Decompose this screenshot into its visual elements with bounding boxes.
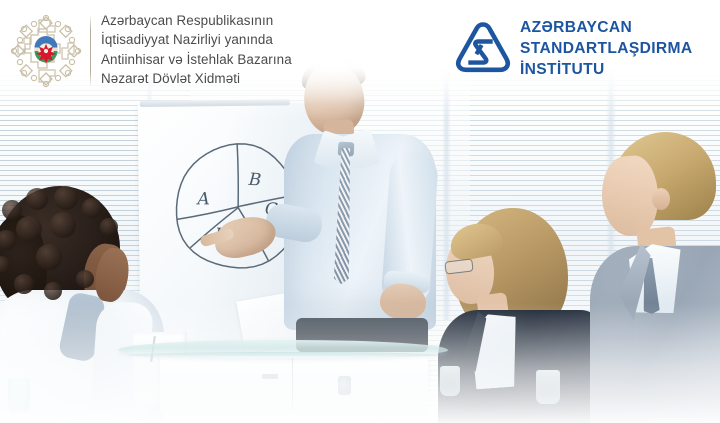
agency-name-line-3: Antiinhisar və İstehlak Bazarına [101,50,341,69]
ear [652,188,670,210]
hair-curl [82,198,102,218]
hair-curl [36,244,62,270]
hair-curl [44,282,62,300]
pie-slice-label-B: B [247,170,262,191]
header-band: Azərbaycan Respublikasının İqtisadiyyat … [0,0,720,104]
institute-name-line-3: İNSTİTUTU [520,60,693,81]
screenshot-canvas: ABCDE [0,0,720,423]
hair-curl [14,274,34,294]
hair-curl [2,200,22,220]
hair-curl [76,270,94,288]
institute-name-line-1: AZƏRBAYCAN [520,18,693,39]
hair-curl [54,186,78,210]
agency-name: Azərbaycan Respublikasının İqtisadiyyat … [101,11,341,88]
standards-institute-triangle-monogram-icon [452,20,514,78]
hair-curl [50,212,76,238]
hair-curl [16,216,42,242]
hair-curl [100,218,118,236]
pie-slice-label-A: A [195,189,209,209]
standards-institute-name: AZƏRBAYCAN STANDARTLAŞDIRMA İNSTİTUTU [520,18,693,80]
header-divider [90,16,91,86]
agency-name-line-4: Nəzarət Dövlət Xidməti [101,69,341,88]
agency-name-line-1: Azərbaycan Respublikasının [101,11,341,30]
azerbaijan-ornament-emblem-icon [8,12,84,90]
institute-name-line-2: STANDARTLAŞDIRMA [520,39,693,60]
hair-curl [26,188,48,210]
standards-institute-logo: AZƏRBAYCAN STANDARTLAŞDIRMA İNSTİTUTU [452,18,710,84]
agency-name-line-2: İqtisadiyyat Nazirliyi yanında [101,30,341,49]
bottom-light-wash [0,303,720,423]
